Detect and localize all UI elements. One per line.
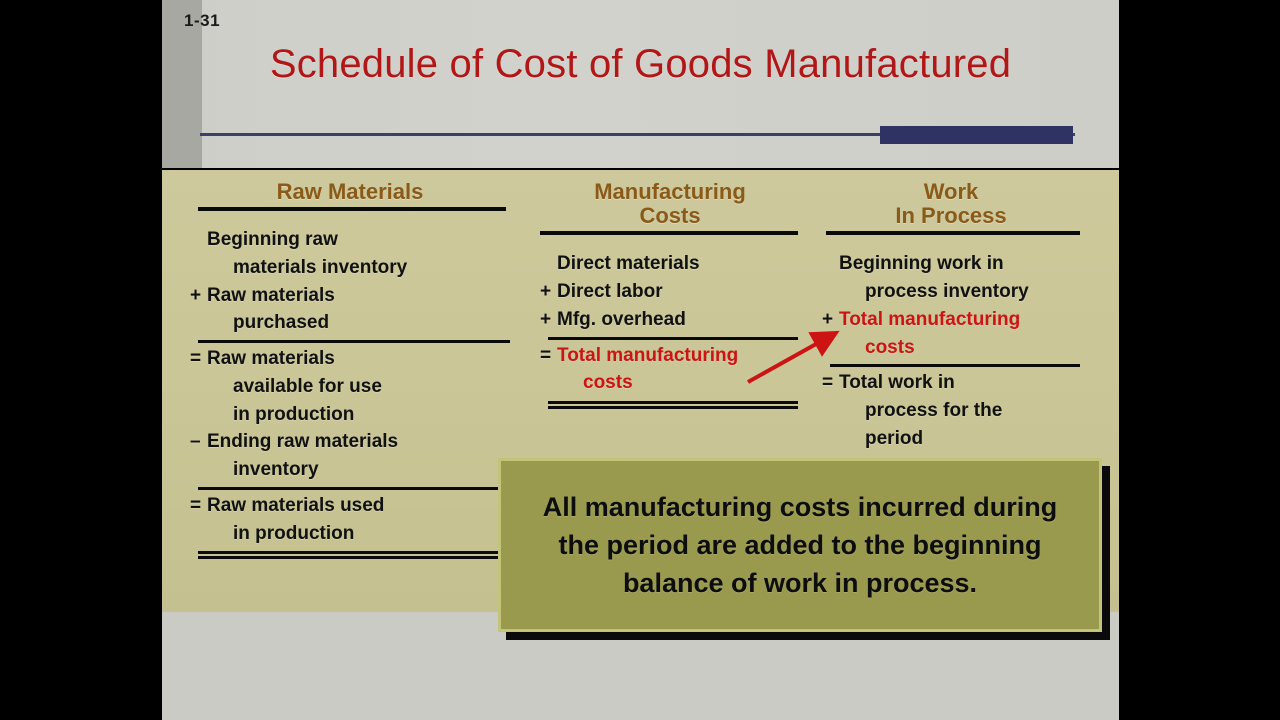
row-operator: [540, 369, 557, 397]
row-operator: [822, 397, 839, 425]
row-operator: [190, 373, 207, 401]
column-heading-line2: In Process: [822, 204, 1080, 228]
list-item: Beginning raw: [190, 226, 510, 254]
row-label: process inventory: [839, 278, 1080, 306]
column-heading-line1: Work: [924, 179, 979, 204]
list-item: Direct materials: [540, 250, 800, 278]
column-rows-work-in-process: Beginning work in process inventory +Tot…: [822, 250, 1080, 452]
list-item: =Total work in: [822, 369, 1080, 397]
row-label-highlighted: costs: [839, 334, 1080, 362]
list-item: +Raw materials: [190, 282, 510, 310]
column-heading-manufacturing-costs: Manufacturing Costs: [540, 180, 800, 228]
row-label: Raw materials: [207, 282, 510, 310]
row-label: Direct materials: [557, 250, 800, 278]
column-heading-rule: [198, 207, 506, 211]
column-heading-line1: Manufacturing: [594, 179, 746, 204]
row-operator: [540, 250, 557, 278]
row-label: Mfg. overhead: [557, 306, 800, 334]
row-label: Beginning work in: [839, 250, 1080, 278]
subtotal-rule: [198, 487, 510, 490]
list-item: process inventory: [822, 278, 1080, 306]
column-heading-rule: [826, 231, 1080, 235]
row-label: Total work in: [839, 369, 1080, 397]
presentation-slide: 1-31 Schedule of Cost of Goods Manufactu…: [162, 0, 1119, 720]
row-label: available for use: [207, 373, 510, 401]
column-rows-raw-materials: Beginning raw materials inventory +Raw m…: [190, 226, 510, 554]
list-item: +Direct labor: [540, 278, 800, 306]
list-item: in production: [190, 520, 510, 548]
list-item: in production: [190, 401, 510, 429]
list-item: process for the: [822, 397, 1080, 425]
row-label: Beginning raw: [207, 226, 510, 254]
column-manufacturing-costs: Manufacturing Costs Direct materials +Di…: [540, 180, 800, 404]
row-label: inventory: [207, 456, 510, 484]
list-item: +Mfg. overhead: [540, 306, 800, 334]
row-operator: [822, 250, 839, 278]
subtotal-rule: [198, 340, 510, 343]
list-item: =Raw materials used: [190, 492, 510, 520]
row-label: in production: [207, 520, 510, 548]
row-operator: [822, 334, 839, 362]
row-operator: [190, 401, 207, 429]
row-label: period: [839, 425, 1080, 453]
column-heading-work-in-process: Work In Process: [822, 180, 1080, 228]
row-label: materials inventory: [207, 254, 510, 282]
row-operator: [190, 309, 207, 337]
row-operator: +: [822, 306, 839, 334]
row-operator: +: [540, 306, 557, 334]
list-item: +Total manufacturing: [822, 306, 1080, 334]
row-operator: [190, 456, 207, 484]
header-accent-bar: [880, 126, 1073, 144]
subtotal-rule: [830, 364, 1080, 367]
column-raw-materials: Raw Materials Beginning raw materials in…: [190, 180, 510, 554]
total-double-rule: [548, 401, 798, 404]
row-operator: +: [190, 282, 207, 310]
list-item: costs: [822, 334, 1080, 362]
callout-box: All manufacturing costs incurred during …: [498, 458, 1102, 632]
row-operator: [190, 226, 207, 254]
column-heading-raw-materials: Raw Materials: [190, 180, 510, 204]
column-heading-rule: [540, 231, 798, 235]
row-operator: =: [822, 369, 839, 397]
row-label: Raw materials used: [207, 492, 510, 520]
row-label: Ending raw materials: [207, 428, 510, 456]
list-item: period: [822, 425, 1080, 453]
row-operator: [190, 520, 207, 548]
row-label-highlighted: costs: [557, 369, 800, 397]
row-label: purchased: [207, 309, 510, 337]
callout-text: All manufacturing costs incurred during …: [501, 488, 1099, 603]
column-heading-line2: Costs: [540, 204, 800, 228]
slide-header: 1-31 Schedule of Cost of Goods Manufactu…: [162, 0, 1119, 168]
list-item: =Total manufacturing: [540, 342, 800, 370]
list-item: –Ending raw materials: [190, 428, 510, 456]
list-item: =Raw materials: [190, 345, 510, 373]
row-label-highlighted: Total manufacturing: [557, 342, 800, 370]
page-title: Schedule of Cost of Goods Manufactured: [162, 42, 1119, 87]
column-work-in-process: Work In Process Beginning work in proces…: [822, 180, 1080, 453]
total-double-rule: [198, 551, 510, 554]
column-heading-line1: Raw Materials: [277, 179, 424, 204]
row-operator: –: [190, 428, 207, 456]
row-operator: [190, 254, 207, 282]
list-item: materials inventory: [190, 254, 510, 282]
list-item: Beginning work in: [822, 250, 1080, 278]
row-label: in production: [207, 401, 510, 429]
row-operator: [822, 425, 839, 453]
row-label: process for the: [839, 397, 1080, 425]
subtotal-rule: [548, 337, 798, 340]
screenshot-stage: 1-31 Schedule of Cost of Goods Manufactu…: [0, 0, 1280, 720]
row-label: Direct labor: [557, 278, 800, 306]
row-operator: =: [190, 492, 207, 520]
list-item: costs: [540, 369, 800, 397]
row-operator: [822, 278, 839, 306]
row-operator: =: [540, 342, 557, 370]
list-item: inventory: [190, 456, 510, 484]
row-label: Raw materials: [207, 345, 510, 373]
slide-number: 1-31: [184, 11, 220, 31]
list-item: available for use: [190, 373, 510, 401]
list-item: purchased: [190, 309, 510, 337]
row-operator: +: [540, 278, 557, 306]
column-rows-manufacturing-costs: Direct materials +Direct labor +Mfg. ove…: [540, 250, 800, 404]
row-label-highlighted: Total manufacturing: [839, 306, 1080, 334]
row-operator: =: [190, 345, 207, 373]
